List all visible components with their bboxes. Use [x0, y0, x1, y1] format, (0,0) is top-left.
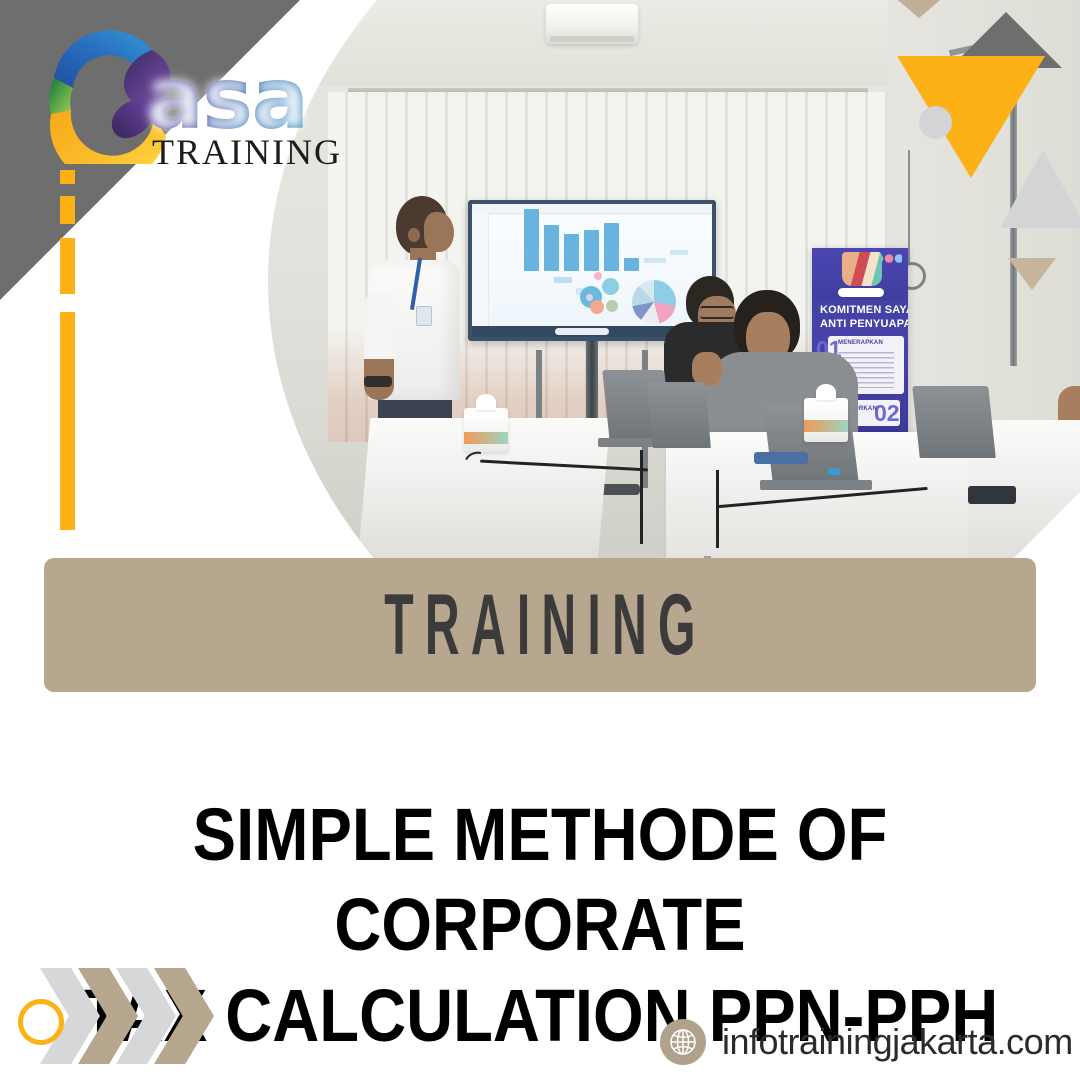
presenter-ear	[408, 228, 420, 242]
screen-label-chip-1	[554, 277, 572, 283]
screen-bar-3	[564, 234, 579, 271]
presentation-screen-content	[472, 204, 712, 337]
asa-training-logo[interactable]: asa TRAINING	[34, 18, 354, 178]
notebook-on-table	[754, 452, 808, 464]
screen-bottom-pill	[555, 328, 609, 335]
rollup-heading-line1: KOMITMEN SAYA	[820, 304, 908, 316]
screen-bar-2	[544, 225, 559, 271]
asa-wordmark: asa	[146, 56, 307, 142]
chevron-arrows-decoration	[18, 968, 218, 1064]
screen-bubble-5	[594, 272, 602, 280]
rollup-item1-label: MENERAPKAN	[838, 340, 883, 346]
screen-bar-5	[604, 223, 619, 271]
rollup-item2-number: 02	[874, 400, 900, 427]
screen-bar-4	[584, 230, 599, 271]
dash-bar-2	[60, 196, 75, 224]
tissue-box-1	[464, 408, 508, 452]
screen-bubble-3	[590, 300, 604, 314]
screen-toolbar	[472, 204, 712, 214]
presenter-badge	[416, 306, 432, 326]
dash-bar-3	[60, 238, 75, 294]
training-poster: KOMITMEN SAYA ANTI PENYUAPAN 01 MENERAPK…	[0, 0, 1080, 1080]
training-banner-label: TRAINING	[373, 582, 707, 668]
screen-bubble-4	[606, 300, 618, 312]
hanging-wire	[908, 150, 910, 265]
laptop-3-base	[760, 480, 872, 490]
laptop-2	[647, 382, 711, 448]
desk-cable-1	[716, 470, 719, 548]
smartphone-on-table	[968, 486, 1016, 504]
chevron-ring-icon	[18, 999, 64, 1045]
laptop-4	[912, 386, 996, 458]
screen-pie-chart	[632, 280, 676, 324]
screen-bubble-6	[586, 294, 593, 301]
rollup-banner-logo-pill	[838, 288, 884, 297]
website-footer[interactable]: infotrainingjakarta.com	[660, 1018, 1073, 1066]
screen-kpi-chip-2	[670, 250, 688, 255]
rollup-heading-line2: ANTI PENYUAPAN	[820, 318, 908, 330]
circle-gray-icon	[919, 106, 952, 139]
floor-cable-2	[640, 450, 643, 544]
rollup-banner-illustration	[842, 252, 882, 286]
presentation-screen	[468, 200, 716, 341]
tissue-box-2-band	[804, 420, 848, 432]
dash-bar-4	[60, 312, 75, 530]
presenter-watch	[364, 376, 392, 387]
page-title-line-1: SIMPLE METHODE OF CORPORATE	[65, 790, 1015, 971]
presenter-face	[424, 212, 454, 252]
tissue-box-1-tissue	[476, 394, 496, 410]
screen-bar-1	[524, 209, 539, 271]
training-banner: TRAINING	[44, 558, 1036, 692]
air-conditioner-vent	[550, 36, 634, 42]
tissue-box-2-tissue	[816, 384, 836, 400]
screen-bar-6	[624, 258, 639, 271]
screen-sidebar	[472, 213, 489, 337]
laptop-3-sticker	[828, 468, 840, 475]
globe-icon	[660, 1019, 706, 1065]
asa-logo-tagline: TRAINING	[152, 134, 342, 170]
participant-1-hand	[692, 352, 722, 386]
screen-kpi-chip-1	[644, 258, 666, 263]
screen-bubble-2	[602, 278, 619, 295]
website-url: infotrainingjakarta.com	[722, 1021, 1073, 1063]
tissue-box-1-band	[464, 432, 508, 444]
participant-2-glasses-icon	[700, 306, 734, 319]
